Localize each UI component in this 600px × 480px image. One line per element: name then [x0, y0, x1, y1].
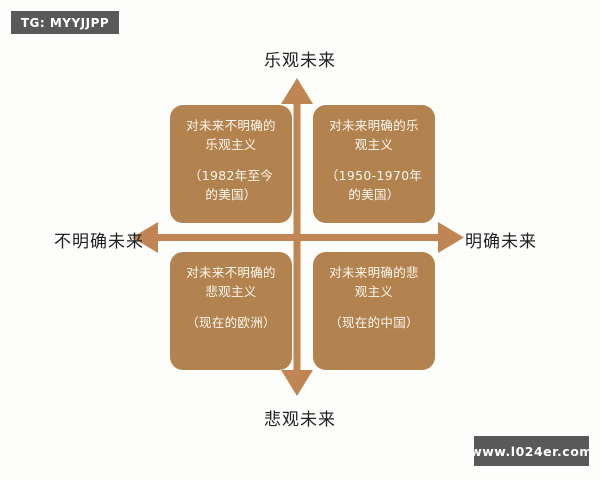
axis-label-bottom: 悲观未来 — [0, 405, 600, 430]
quadrant-subtitle: （现在的欧洲） — [186, 313, 276, 332]
quadrant-subtitle-line-1: （现在的欧洲） — [186, 313, 276, 332]
quadrant-title-line-2: 观主义 — [329, 282, 419, 301]
quadrant-title-line-2: 悲观主义 — [186, 282, 276, 301]
quadrant-title: 对未来明确的乐 观主义 — [329, 116, 419, 154]
watermark-badge-top-left: TG: MYYJJPP — [11, 11, 119, 34]
arrow-right-icon — [438, 222, 464, 253]
quadrant-title: 对未来不明确的 乐观主义 — [186, 116, 276, 154]
quadrant-subtitle: （1982年至今 的美国） — [189, 166, 273, 204]
quadrant-subtitle: （1950-1970年 的美国） — [326, 166, 422, 204]
arrow-up-icon — [281, 78, 313, 104]
quadrant-box-top-right: 对未来明确的乐 观主义 （1950-1970年 的美国） — [313, 105, 435, 223]
quadrant-subtitle-line-2: 的美国） — [189, 185, 273, 204]
quadrant-box-bottom-left: 对未来不明确的 悲观主义 （现在的欧洲） — [170, 252, 292, 370]
quadrant-subtitle-line-2: 的美国） — [326, 185, 422, 204]
quadrant-box-top-left: 对未来不明确的 乐观主义 （1982年至今 的美国） — [170, 105, 292, 223]
quadrant-subtitle-line-1: （1950-1970年 — [326, 166, 422, 185]
quadrant-title-line-2: 观主义 — [329, 135, 419, 154]
quadrant-title-line-2: 乐观主义 — [186, 135, 276, 154]
axis-label-right: 明确未来 — [465, 227, 537, 252]
quadrant-title-line-1: 对未来明确的悲 — [329, 263, 419, 282]
quadrant-subtitle-line-1: （1982年至今 — [189, 166, 273, 185]
quadrant-title: 对未来不明确的 悲观主义 — [186, 263, 276, 301]
quadrant-title: 对未来明确的悲 观主义 — [329, 263, 419, 301]
quadrant-box-bottom-right: 对未来明确的悲 观主义 （现在的中国） — [313, 252, 435, 370]
vertical-axis-shaft — [294, 96, 301, 370]
axis-label-left: 不明确未来 — [54, 227, 144, 252]
horizontal-axis-shaft — [150, 234, 446, 241]
quadrant-subtitle-line-1: （现在的中国） — [329, 313, 419, 332]
watermark-badge-bottom-right: www.l024er.com — [474, 436, 589, 466]
axis-label-top: 乐观未来 — [0, 46, 600, 71]
quadrant-title-line-1: 对未来明确的乐 — [329, 116, 419, 135]
quadrant-title-line-1: 对未来不明确的 — [186, 116, 276, 135]
quadrant-subtitle: （现在的中国） — [329, 313, 419, 332]
quadrant-title-line-1: 对未来不明确的 — [186, 263, 276, 282]
quadrant-diagram-canvas: 乐观未来 悲观未来 不明确未来 明确未来 对未来不明确的 乐观主义 （1982年… — [0, 0, 600, 480]
arrow-down-icon — [281, 370, 313, 396]
